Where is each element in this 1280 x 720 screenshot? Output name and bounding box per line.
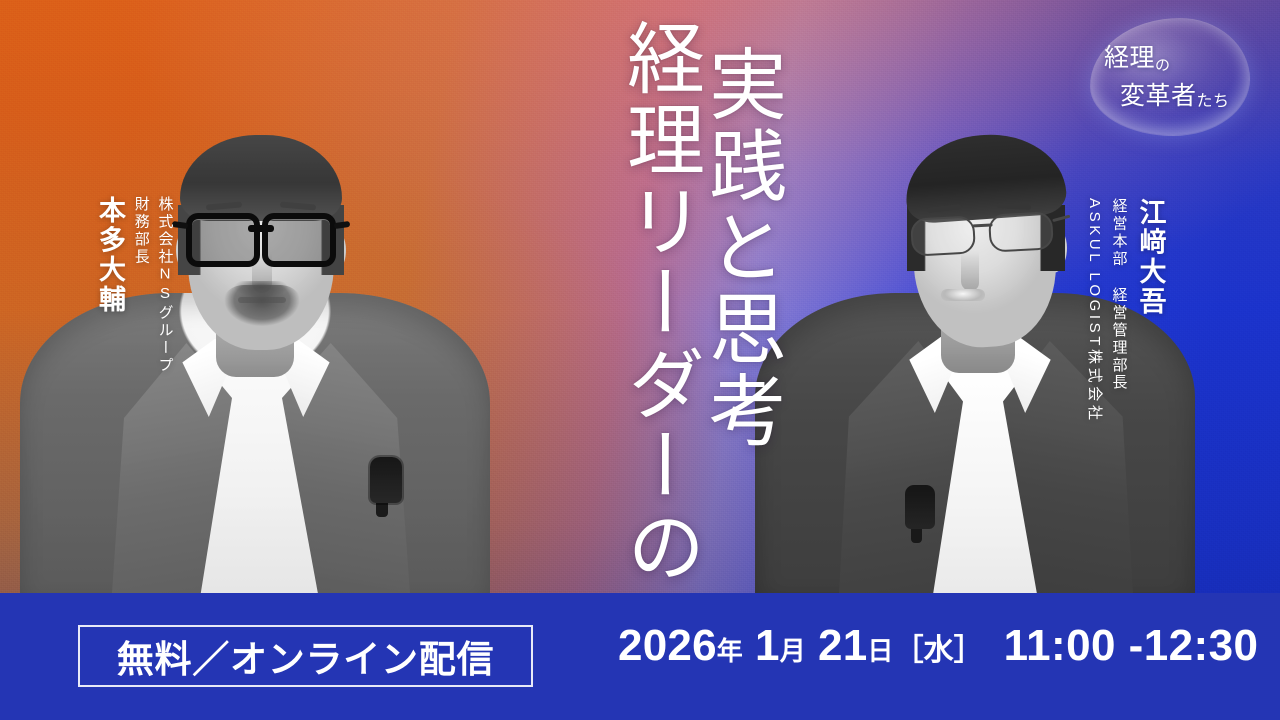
date-month: 1 xyxy=(755,621,780,671)
nose xyxy=(961,251,979,291)
speaker-title-right: 経営本部 経営管理部長 xyxy=(1111,198,1127,423)
date-year: 2026 xyxy=(618,621,717,671)
free-online-badge-label: 無料／オンライン配信 xyxy=(117,629,494,683)
lapel-mic-icon xyxy=(370,457,402,503)
logo-line-1-main: 経理 xyxy=(1104,43,1155,72)
speaker-caption-right: 江﨑大吾 経営本部 経営管理部長 ASKUL LOGIST株式会社 xyxy=(1086,198,1164,423)
footer-bar: 無料／オンライン配信 2026 年 1 月 21 日 ［水］ 11:00 -12… xyxy=(0,593,1280,720)
page-title: 経理リーダーの 実践と思考 xyxy=(620,18,780,589)
speaker-caption-left: 本多大輔 財務部長 株式会社NSグループ xyxy=(96,196,173,374)
title-line-sub: 実践と思考 xyxy=(702,44,780,452)
mouth xyxy=(941,289,985,301)
eyeglass-lens-right xyxy=(262,213,336,267)
title-line-main: 経理リーダーの xyxy=(620,18,698,589)
event-datetime: 2026 年 1 月 21 日 ［水］ 11:00 -12:30 xyxy=(618,621,1258,671)
free-online-badge: 無料／オンライン配信 xyxy=(78,625,533,687)
logo-line-1-small: の xyxy=(1155,56,1171,74)
webinar-banner: 経理リーダーの 実践と思考 本多大輔 財務部長 株式会社NSグループ 江﨑大吾 … xyxy=(0,0,1280,720)
eyeglasses-icon xyxy=(906,211,1058,257)
speaker-meta-right: 経営本部 経営管理部長 ASKUL LOGIST株式会社 xyxy=(1086,198,1127,423)
lapel-mic-icon xyxy=(905,485,935,529)
logo-text: 経理の 変革者たち xyxy=(1090,18,1250,136)
goatee-beard xyxy=(220,285,304,335)
speaker-company-right: ASKUL LOGIST株式会社 xyxy=(1086,198,1102,423)
logo-line-1: 経理の xyxy=(1104,38,1171,75)
logo-line-2: 変革者たち xyxy=(1120,76,1230,112)
speaker-name-right: 江﨑大吾 xyxy=(1137,198,1164,317)
logo-line-2-main: 変革者 xyxy=(1120,81,1197,110)
program-logo: 経理の 変革者たち xyxy=(1090,18,1250,136)
eyeglass-temple-left xyxy=(172,221,189,229)
eyeglass-lens-right xyxy=(988,211,1054,252)
eyeglass-lens-left xyxy=(910,215,976,256)
speaker-meta-left: 財務部長 株式会社NSグループ xyxy=(133,196,173,374)
eyeglasses-icon xyxy=(184,213,338,257)
eyeglass-bridge xyxy=(248,225,274,232)
speaker-name-left: 本多大輔 xyxy=(96,196,123,315)
logo-line-2-small: たち xyxy=(1197,91,1230,110)
date-day-unit: 日 xyxy=(867,631,893,668)
hair xyxy=(180,135,342,221)
date-month-unit: 月 xyxy=(780,631,806,668)
eyeglass-lens-left xyxy=(186,213,260,267)
date-weekday: ［水］ xyxy=(894,625,984,669)
speaker-title-left: 財務部長 xyxy=(133,196,149,374)
speaker-photo-left xyxy=(20,63,490,593)
speaker-company-left: 株式会社NSグループ xyxy=(157,196,173,374)
event-time-range: 11:00 -12:30 xyxy=(1004,621,1259,671)
date-day: 21 xyxy=(818,621,867,671)
date-year-unit: 年 xyxy=(717,631,743,668)
eyeglass-temple-right xyxy=(334,221,351,229)
